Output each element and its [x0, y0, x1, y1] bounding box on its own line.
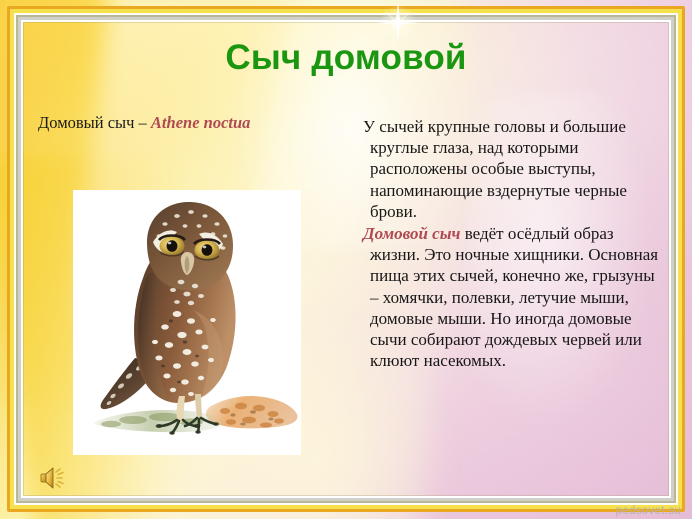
speaker-icon[interactable] — [38, 463, 70, 493]
page-title: Сыч домовой — [0, 38, 692, 78]
owl-illustration-icon — [73, 190, 301, 455]
owl-image — [73, 190, 301, 455]
left-content-column: Домовый сыч – Athene noctua — [38, 112, 338, 133]
paragraph-behaviour: Домовой сыч ведёт осёдлый образ жизни. Э… — [361, 223, 659, 371]
paragraph-behaviour-lead: Домовой сыч — [363, 224, 460, 243]
species-caption-russian: Домовый сыч – — [38, 113, 151, 132]
paragraph-behaviour-rest: ведёт осёдлый образ жизни. Это ночные хи… — [370, 224, 658, 370]
paragraph-description: У сычей крупные головы и большие круглые… — [361, 116, 659, 222]
presentation-slide: Сыч домовой Домовый сыч – Athene noctua — [0, 0, 692, 519]
watermark: pedsovet.su — [616, 505, 681, 517]
right-content-column: У сычей крупные головы и большие круглые… — [361, 116, 659, 372]
species-caption-latin: Athene noctua — [151, 113, 250, 132]
species-caption: Домовый сыч – Athene noctua — [38, 112, 338, 133]
